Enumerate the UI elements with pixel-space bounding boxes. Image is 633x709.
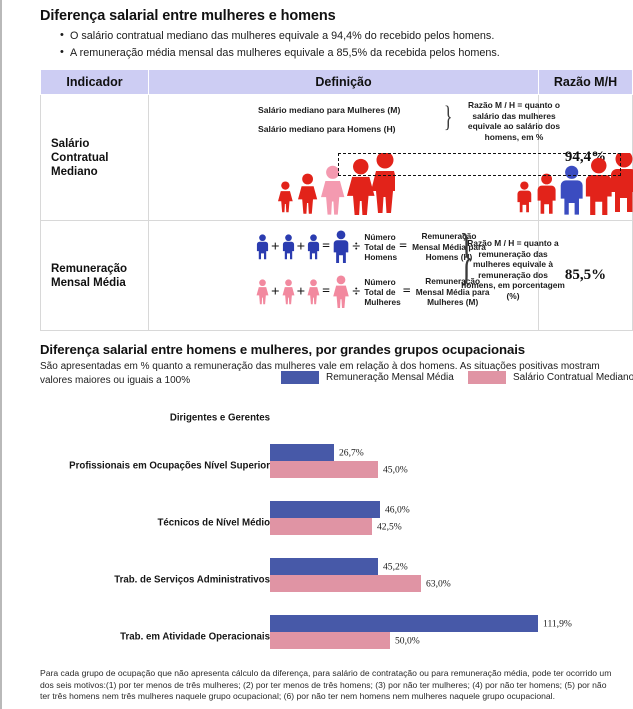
bar-fill-pink xyxy=(270,632,390,649)
chart-group-tecnicos: Técnicos de Nível Médio 46,0% 42,5% xyxy=(40,501,632,545)
bar-value-label: 45,0% xyxy=(383,464,408,475)
bar-pair: 46,0% 42,5% xyxy=(270,501,380,535)
man-icon xyxy=(307,234,320,260)
divide-sign: ÷ xyxy=(352,284,360,301)
chart-group-operacionais: Trab. em Atividade Operacionais 111,9% 5… xyxy=(40,615,632,659)
column-header-razao: Razão M/H xyxy=(539,70,633,95)
indicator-label-line1: Remuneração xyxy=(51,263,127,275)
plus-sign: + xyxy=(271,239,280,256)
legend-swatch-blue xyxy=(281,371,319,384)
footnote-text: Para cada grupo de ocupação que não apre… xyxy=(40,668,618,703)
list-item: A remuneração média mensal das mulheres … xyxy=(60,45,632,62)
definitions-table: Indicador Definição Razão M/H Salário Co… xyxy=(40,69,633,331)
chart-group-administrativos: Trab. de Serviços Administrativos 45,2% … xyxy=(40,558,632,602)
caption-median-salary-men: Salário mediano para Homens (H) xyxy=(258,124,396,135)
list-item: O salário contratual mediano das mulhere… xyxy=(60,28,632,45)
indicator-label-line2: Contratual xyxy=(51,152,109,164)
equals-sign: = xyxy=(322,284,330,300)
woman-icon xyxy=(256,279,269,305)
divisor-label-women: NúmeroTotal deMulheres xyxy=(364,277,400,307)
bar-remuneracao: 46,0% xyxy=(270,501,380,518)
plus-sign: + xyxy=(271,284,280,301)
equals-sign: = xyxy=(399,239,407,255)
bar-pair: 111,9% 50,0% xyxy=(270,615,538,649)
category-label: Dirigentes e Gerentes xyxy=(170,413,270,424)
definition-cell-salario-mediano: Salário mediano para Mulheres (M) Salári… xyxy=(149,95,539,221)
divisor-label-men: NúmeroTotal deHomens xyxy=(364,232,397,262)
bar-pair: 26,7% 45,0% xyxy=(270,444,378,478)
bar-value-label: 63,0% xyxy=(426,578,451,589)
plus-sign: + xyxy=(297,239,306,256)
occupational-groups-bar-chart: Dirigentes e Gerentes Profissionais em O… xyxy=(40,396,632,664)
indicator-cell-salario-mediano: Salário Contratual Mediano xyxy=(41,95,149,221)
bar-fill-pink xyxy=(270,461,378,478)
legend-swatch-pink xyxy=(468,371,506,384)
category-label: Trab. de Serviços Administrativos xyxy=(114,575,270,586)
man-icon xyxy=(256,234,269,260)
bar-fill-pink xyxy=(270,518,372,535)
bar-fill-pink xyxy=(270,575,421,592)
bar-value-label: 45,2% xyxy=(383,561,408,572)
divide-sign: ÷ xyxy=(352,239,360,256)
bar-pair: 45,2% 63,0% xyxy=(270,558,421,592)
man-icon-large xyxy=(332,230,350,264)
bar-fill-blue xyxy=(270,444,334,461)
indicator-label-line2: Mensal Média xyxy=(51,277,126,289)
table-row: Remuneração Mensal Média + + = xyxy=(41,221,633,331)
legend-item-remuneracao: Remuneração Mensal Média xyxy=(281,371,454,384)
page-title: Diferença salarial entre mulheres e home… xyxy=(40,0,632,28)
bar-fill-blue xyxy=(270,615,538,632)
woman-icon-large xyxy=(332,275,350,309)
woman-icon xyxy=(282,279,295,305)
category-label: Trab. em Atividade Operacionais xyxy=(120,632,270,643)
indicator-label-line3: Mediano xyxy=(51,166,98,178)
bar-value-label: 111,9% xyxy=(543,618,572,629)
indicator-label-line1: Salário xyxy=(51,138,89,150)
caption-median-salary-women: Salário mediano para Mulheres (M) xyxy=(258,105,400,116)
legend-label: Salário Contratual Mediano xyxy=(513,372,633,383)
brace-icon: } xyxy=(444,100,453,134)
bar-value-label: 50,0% xyxy=(395,635,420,646)
ratio-definition-note: Razão M / H = quanto a remuneração das m… xyxy=(461,238,565,301)
bar-salario: 50,0% xyxy=(270,632,538,649)
column-header-indicador: Indicador xyxy=(41,70,149,95)
formula-women: + + = ÷ NúmeroTotal deMulheres = Remuner… xyxy=(256,275,490,309)
bar-fill-blue xyxy=(270,558,378,575)
category-label: Profissionais em Ocupações Nível Superio… xyxy=(69,461,270,472)
ratio-definition-note: Razão M / H = quanto o salário das mulhe… xyxy=(455,100,573,142)
chart-group-profissionais: Profissionais em Ocupações Nível Superio… xyxy=(40,444,632,488)
bar-value-label: 26,7% xyxy=(339,447,364,458)
plus-sign: + xyxy=(297,284,306,301)
category-label: Técnicos de Nível Médio xyxy=(157,518,270,529)
bar-salario: 45,0% xyxy=(270,461,378,478)
bar-salario: 42,5% xyxy=(270,518,380,535)
bar-remuneracao: 26,7% xyxy=(270,444,378,461)
equals-sign: = xyxy=(403,284,411,300)
chart-group-dirigentes: Dirigentes e Gerentes xyxy=(40,396,632,440)
bar-remuneracao: 111,9% xyxy=(270,615,538,632)
woman-icon xyxy=(307,279,320,305)
table-header-row: Indicador Definição Razão M/H xyxy=(41,70,633,95)
bar-value-label: 46,0% xyxy=(385,504,410,515)
bar-salario: 63,0% xyxy=(270,575,421,592)
equals-sign: = xyxy=(322,239,330,255)
bar-value-label: 42,5% xyxy=(377,521,402,532)
definition-cell-remuneracao-media: + + = ÷ NúmeroTotal deHomens = Remuneraç… xyxy=(149,221,539,331)
legend-label: Remuneração Mensal Média xyxy=(326,372,454,383)
bar-fill-blue xyxy=(270,501,380,518)
table-row: Salário Contratual Mediano Salário media… xyxy=(41,95,633,221)
chart-legend: Remuneração Mensal Média Salário Contrat… xyxy=(40,371,632,387)
summary-bullet-list: O salário contratual mediano das mulhere… xyxy=(40,28,632,62)
bar-remuneracao: 45,2% xyxy=(270,558,421,575)
man-icon xyxy=(282,234,295,260)
indicator-cell-remuneracao-media: Remuneração Mensal Média xyxy=(41,221,149,331)
legend-item-salario: Salário Contratual Mediano xyxy=(468,371,633,384)
comparison-dashed-box xyxy=(338,153,621,176)
column-header-definicao: Definição xyxy=(149,70,539,95)
page-root: Diferença salarial entre mulheres e home… xyxy=(0,0,633,709)
formula-men: + + = ÷ NúmeroTotal deHomens = Remuneraç… xyxy=(256,230,486,264)
section-title-occupational-groups: Diferença salarial entre homens e mulher… xyxy=(40,331,632,360)
